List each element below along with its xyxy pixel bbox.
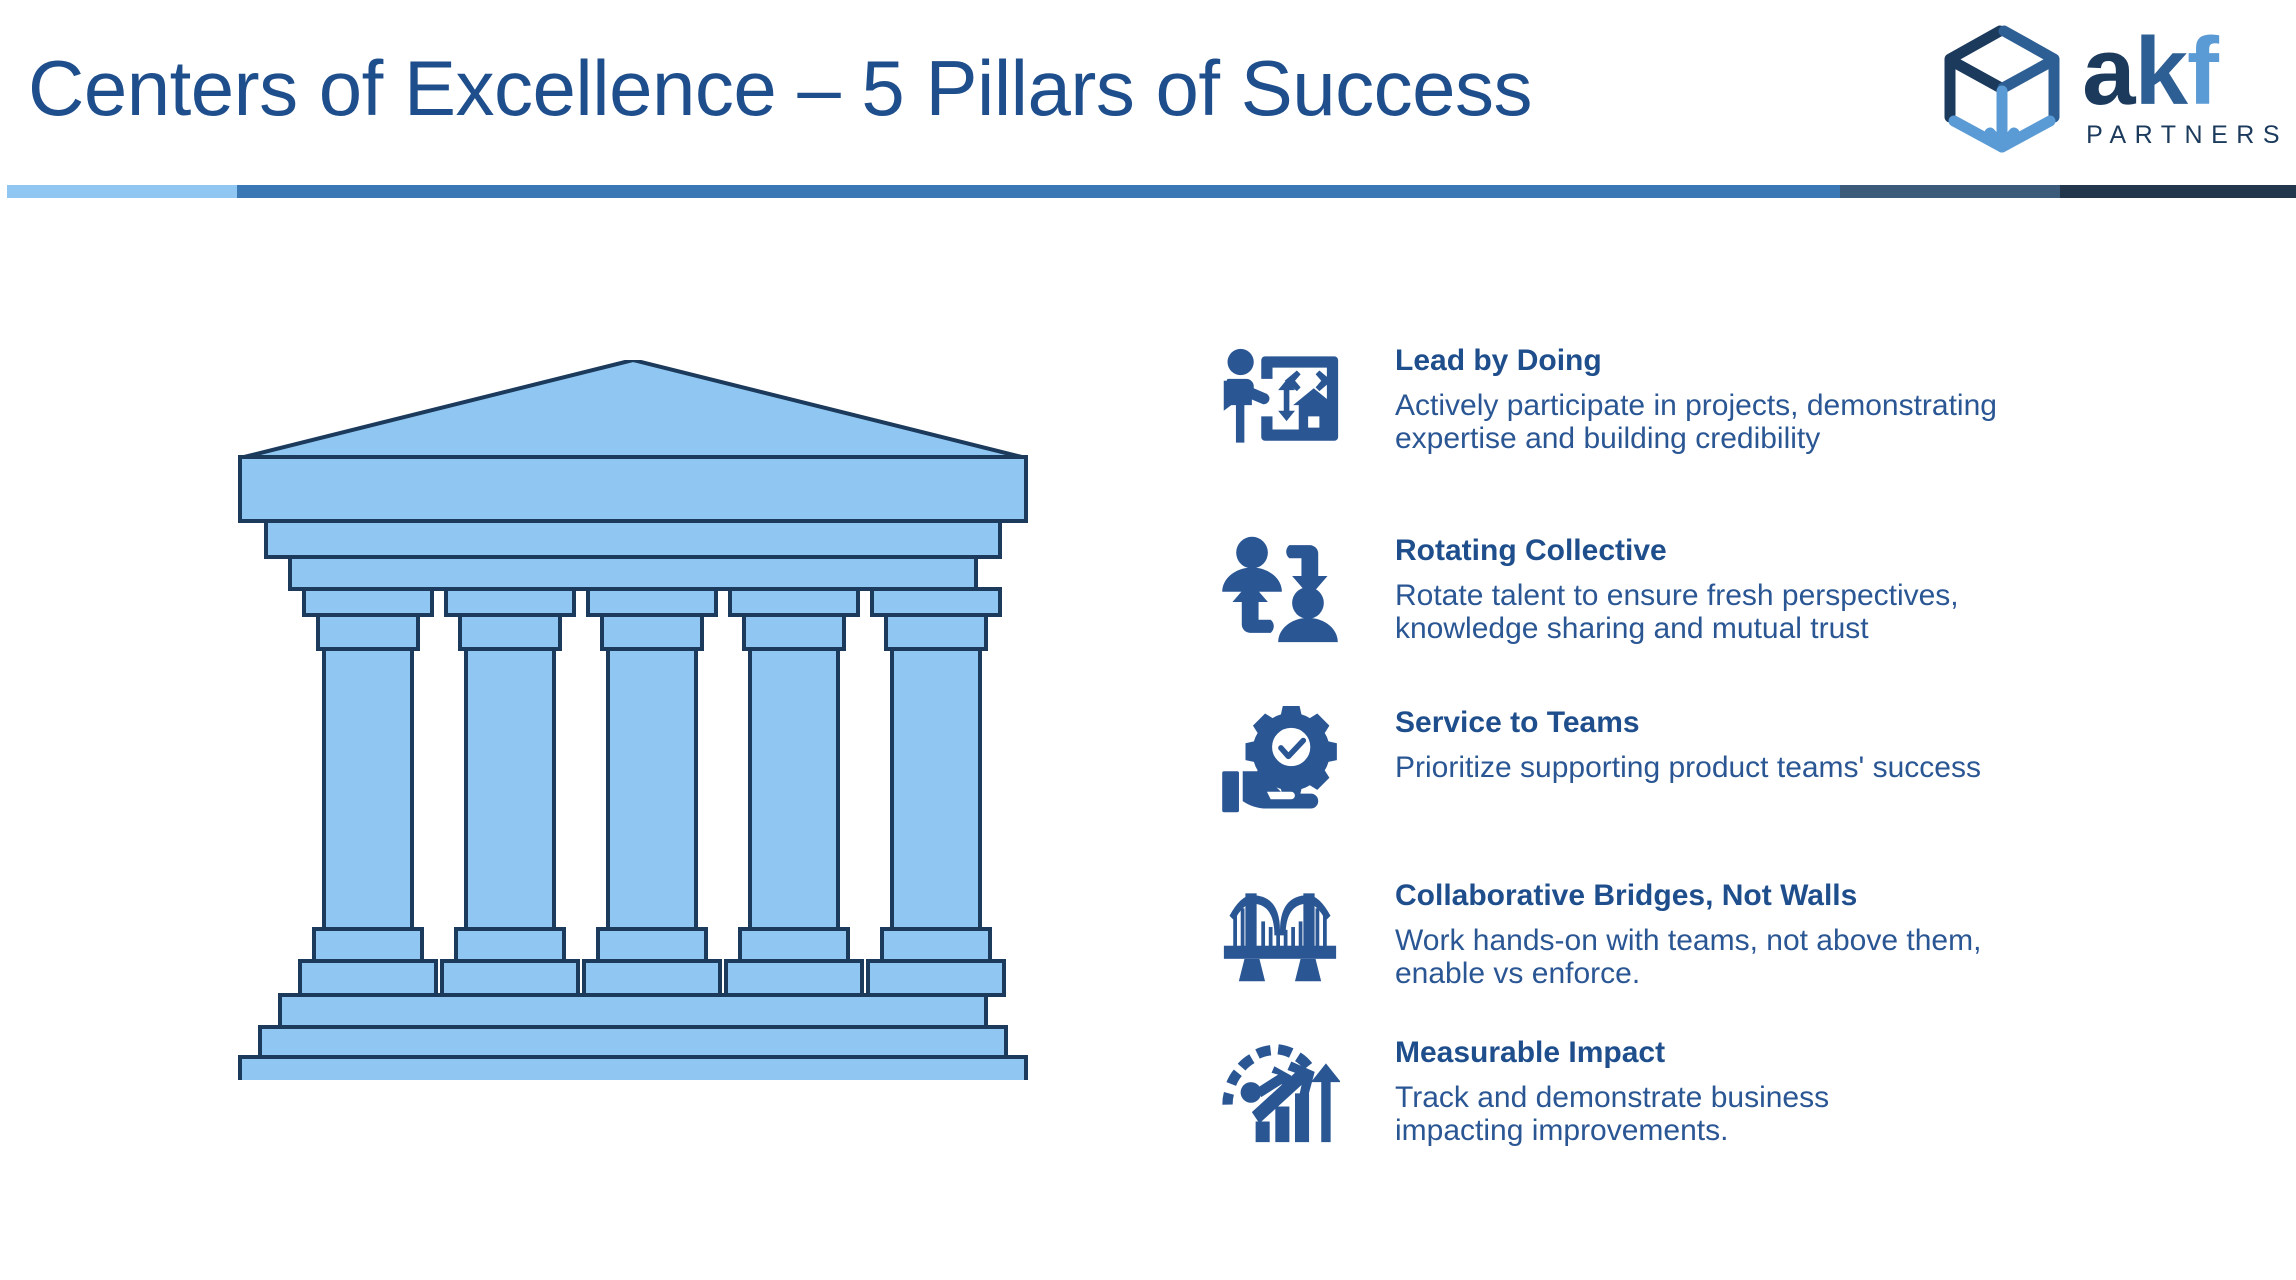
logo-letter-k: k bbox=[2135, 26, 2187, 118]
list-item: Lead by Doing Actively participate in pr… bbox=[1215, 340, 1997, 458]
list-item-body: Rotating Collective Rotate talent to ens… bbox=[1345, 530, 1959, 645]
logo-letter-a: a bbox=[2082, 26, 2134, 118]
pillar-description: Rotate talent to ensure fresh perspectiv… bbox=[1395, 579, 1959, 645]
divider-segment-dark-navy bbox=[2060, 185, 2296, 198]
logo-letter-f: f bbox=[2187, 26, 2218, 118]
presenter-board-icon bbox=[1215, 340, 1345, 458]
pillar-description: Prioritize supporting product teams' suc… bbox=[1395, 751, 1981, 784]
header-divider-bar bbox=[0, 185, 2296, 198]
slide-header: Centers of Excellence – 5 Pillars of Suc… bbox=[0, 0, 2296, 196]
list-item-body: Measurable Impact Track and demonstrate … bbox=[1345, 1032, 1829, 1147]
pillar-description: Actively participate in projects, demons… bbox=[1395, 389, 1997, 455]
description-line: knowledge sharing and mutual trust bbox=[1395, 612, 1959, 645]
suspension-bridge-icon bbox=[1215, 875, 1345, 993]
description-line: Work hands-on with teams, not above them… bbox=[1395, 924, 1981, 957]
slide-canvas: Centers of Excellence – 5 Pillars of Suc… bbox=[0, 0, 2296, 1280]
description-line: Track and demonstrate business bbox=[1395, 1081, 1829, 1114]
cube-hexagon-icon bbox=[1938, 21, 2066, 155]
divider-segment-slate bbox=[1840, 185, 2060, 198]
list-item: Service to Teams Prioritize supporting p… bbox=[1215, 702, 1981, 820]
logo-wordmark: akf PARTNERS bbox=[2082, 26, 2288, 150]
list-item: Rotating Collective Rotate talent to ens… bbox=[1215, 530, 1959, 648]
description-line: Prioritize supporting product teams' suc… bbox=[1395, 751, 1981, 784]
pillar-heading: Collaborative Bridges, Not Walls bbox=[1395, 877, 1981, 915]
pillar-description: Track and demonstrate business impacting… bbox=[1395, 1081, 1829, 1147]
pillar-heading: Measurable Impact bbox=[1395, 1034, 1829, 1072]
list-item: Collaborative Bridges, Not Walls Work ha… bbox=[1215, 875, 1981, 993]
list-item-body: Service to Teams Prioritize supporting p… bbox=[1345, 702, 1981, 784]
description-line: enable vs enforce. bbox=[1395, 957, 1981, 990]
list-item-body: Lead by Doing Actively participate in pr… bbox=[1345, 340, 1997, 455]
list-item: Measurable Impact Track and demonstrate … bbox=[1215, 1032, 1829, 1150]
akf-partners-logo: akf PARTNERS bbox=[1938, 14, 2288, 162]
rotating-people-icon bbox=[1215, 530, 1345, 648]
description-line: expertise and building credibility bbox=[1395, 422, 1997, 455]
page-title: Centers of Excellence – 5 Pillars of Suc… bbox=[28, 32, 1828, 144]
description-line: Rotate talent to ensure fresh perspectiv… bbox=[1395, 579, 1959, 612]
description-line: impacting improvements. bbox=[1395, 1114, 1829, 1147]
list-item-body: Collaborative Bridges, Not Walls Work ha… bbox=[1345, 875, 1981, 990]
pillar-heading: Rotating Collective bbox=[1395, 532, 1959, 570]
pillar-heading: Lead by Doing bbox=[1395, 342, 1997, 380]
gauge-growth-chart-icon bbox=[1215, 1032, 1345, 1150]
divider-segment-medium-blue bbox=[237, 185, 1840, 198]
hand-holding-gear-check-icon bbox=[1215, 702, 1345, 820]
pillar-heading: Service to Teams bbox=[1395, 704, 1981, 742]
divider-segment-light-blue bbox=[7, 185, 237, 198]
logo-tagline: PARTNERS bbox=[2082, 120, 2288, 150]
logo-brand: akf bbox=[2082, 26, 2218, 118]
description-line: Actively participate in projects, demons… bbox=[1395, 389, 1997, 422]
pillar-description: Work hands-on with teams, not above them… bbox=[1395, 924, 1981, 990]
greek-temple-graphic bbox=[238, 360, 1028, 1080]
